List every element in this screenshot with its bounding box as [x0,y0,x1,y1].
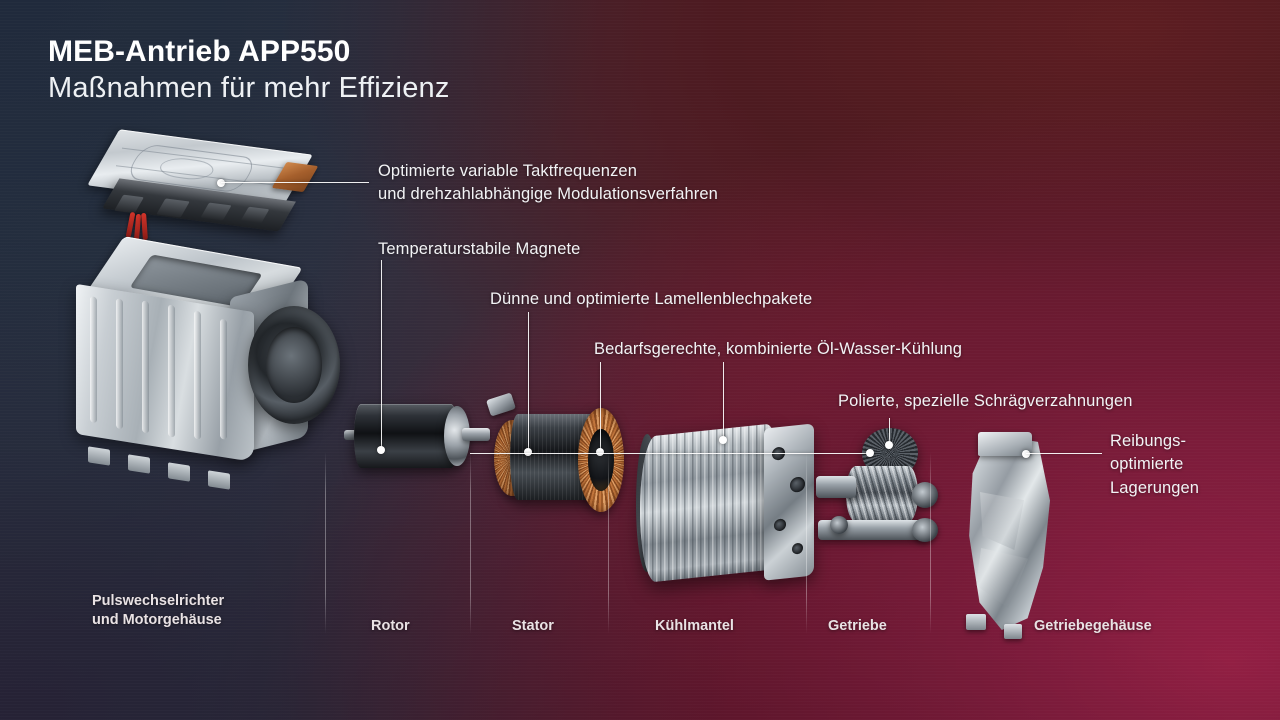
stator-illustration [486,392,636,532]
gear-lower-hub [912,518,938,542]
gear-lower-collar [830,516,848,534]
page-subtitle: Maßnahmen für mehr Effizienz [48,71,450,106]
page-title: MEB-Antrieb APP550 [48,34,450,69]
gear-output-hub [912,482,938,508]
leader-line-kuehlung-b [723,362,724,440]
callout-taktfrequenzen: Optimierte variable Taktfrequenzen und d… [378,160,718,207]
callout-schraegverzahnungen: Polierte, spezielle Schrägverzahnungen [838,390,1133,413]
category-label-kuehlmantel: Kühlmantel [655,617,734,636]
housing-bearing-flange [248,306,340,424]
leader-line-schraeg-b [470,453,870,454]
leader-line-taktfrequenzen [221,182,369,183]
housing-mount-foot [88,446,110,465]
leader-line-magnete [381,260,382,450]
section-divider [470,452,471,634]
section-divider [806,452,807,634]
callout-lamellenblechpakete: Dünne und optimierte Lamellenblechpakete [490,288,812,311]
section-divider [930,452,931,634]
leader-line-kuehlung-a [600,362,601,452]
leader-dot-kuehlung-b [719,436,727,444]
pulse-inverter-illustration [88,138,318,248]
rotor-illustration [344,396,494,486]
category-label-getriebe: Getriebe [828,617,887,636]
inverter-cable [141,213,148,240]
section-divider [608,452,609,634]
motor-housing-illustration [62,250,352,495]
leader-dot-schraeg-b [866,449,874,457]
category-label-getriebegehaeuse: Getriebegehäuse [1034,617,1152,636]
helical-gear-main [846,466,918,522]
leader-dot-magnete [377,446,385,454]
housing-mount-foot [128,454,150,473]
leader-dot-schraeg-a [885,441,893,449]
housing-mount-foot [208,470,230,489]
gearbox-housing-illustration [950,432,1080,642]
callout-lagerungen: Reibungs- optimierte Lagerungen [1110,430,1199,500]
infographic-canvas: MEB-Antrieb APP550 Maßnahmen für mehr Ef… [0,0,1280,720]
housing-mount-foot [168,462,190,481]
category-label-rotor: Rotor [371,617,410,636]
leader-line-lamellen [528,312,529,452]
section-divider [325,452,326,634]
cooling-jacket-illustration [636,424,816,584]
jacket-ribbed-barrel [640,423,782,584]
callout-kuehlung: Bedarfsgerechte, kombinierte Öl-Wasser-K… [594,338,962,361]
leader-line-lagerungen [1026,453,1102,454]
category-label-pulswechselrichter: Pulswechselrichter und Motorgehäuse [92,592,224,630]
housing-front-face [76,284,254,462]
title-block: MEB-Antrieb APP550 Maßnahmen für mehr Ef… [48,34,450,106]
leader-dot-kuehlung-a [596,448,604,456]
leader-dot-lamellen [524,448,532,456]
gear-set-illustration [816,424,942,564]
rotor-drum [354,404,458,468]
callout-magnete: Temperaturstabile Magnete [378,238,580,261]
gear-input-shaft [816,476,856,498]
stator-terminal-block [486,392,516,416]
category-label-stator: Stator [512,617,554,636]
